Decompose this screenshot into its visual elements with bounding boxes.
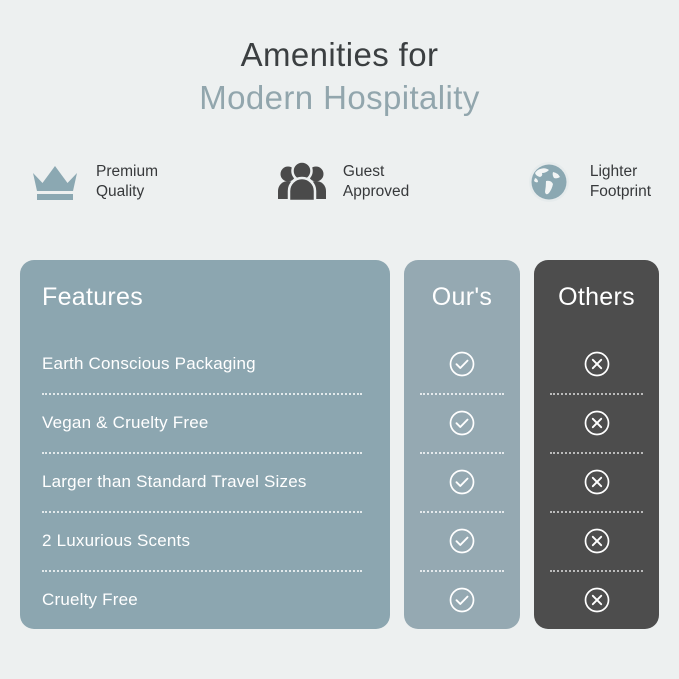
feature-label: Earth Conscious Packaging — [42, 354, 256, 374]
check-circle-icon — [448, 468, 476, 496]
x-circle-icon — [583, 350, 611, 378]
table-row — [534, 393, 659, 452]
table-row: Earth Conscious Packaging — [42, 334, 368, 393]
column-header-features: Features — [42, 260, 368, 334]
highlight-item-premium-quality: Premium Quality — [26, 156, 273, 208]
comparison-column-others: Others — [534, 260, 659, 629]
column-header-others: Others — [534, 260, 659, 334]
feature-label: Cruelty Free — [42, 590, 138, 610]
highlights-row: Premium Quality Guest Approved — [0, 156, 679, 208]
feature-label: 2 Luxurious Scents — [42, 531, 190, 551]
table-row — [534, 511, 659, 570]
x-circle-icon — [583, 468, 611, 496]
table-row: Vegan & Cruelty Free — [42, 393, 368, 452]
comparison-table: Features Earth Conscious Packaging Vegan… — [0, 260, 679, 629]
title-line-accent: Modern Hospitality — [0, 76, 679, 120]
highlight-item-guest-approved: Guest Approved — [273, 156, 520, 208]
check-circle-icon — [448, 409, 476, 437]
column-header-ours: Our's — [404, 260, 520, 334]
features-rows: Earth Conscious Packaging Vegan & Cruelt… — [42, 334, 368, 629]
ours-rows — [404, 334, 520, 629]
comparison-column-features: Features Earth Conscious Packaging Vegan… — [20, 260, 390, 629]
title-line-primary: Amenities for — [0, 34, 679, 76]
table-row — [404, 570, 520, 629]
table-row — [404, 334, 520, 393]
check-circle-icon — [448, 350, 476, 378]
table-row — [534, 452, 659, 511]
table-row — [404, 452, 520, 511]
table-row: Larger than Standard Travel Sizes — [42, 452, 368, 511]
table-row — [534, 570, 659, 629]
check-circle-icon — [448, 527, 476, 555]
table-row — [404, 393, 520, 452]
check-circle-icon — [448, 586, 476, 614]
x-circle-icon — [583, 409, 611, 437]
page-title: Amenities for Modern Hospitality — [0, 0, 679, 120]
comparison-column-ours: Our's — [404, 260, 520, 629]
highlight-label-guest-approved: Guest Approved — [343, 162, 409, 202]
highlight-label-premium-quality: Premium Quality — [96, 162, 158, 202]
x-circle-icon — [583, 527, 611, 555]
table-row: Cruelty Free — [42, 570, 368, 629]
table-row — [534, 334, 659, 393]
crown-icon — [26, 156, 84, 208]
x-circle-icon — [583, 586, 611, 614]
highlight-item-lighter-footprint: Lighter Footprint — [520, 156, 651, 208]
feature-label: Larger than Standard Travel Sizes — [42, 472, 307, 492]
group-people-icon — [273, 156, 331, 208]
highlight-label-lighter-footprint: Lighter Footprint — [590, 162, 651, 202]
others-rows — [534, 334, 659, 629]
globe-icon — [520, 156, 578, 208]
feature-label: Vegan & Cruelty Free — [42, 413, 209, 433]
table-row — [404, 511, 520, 570]
table-row: 2 Luxurious Scents — [42, 511, 368, 570]
